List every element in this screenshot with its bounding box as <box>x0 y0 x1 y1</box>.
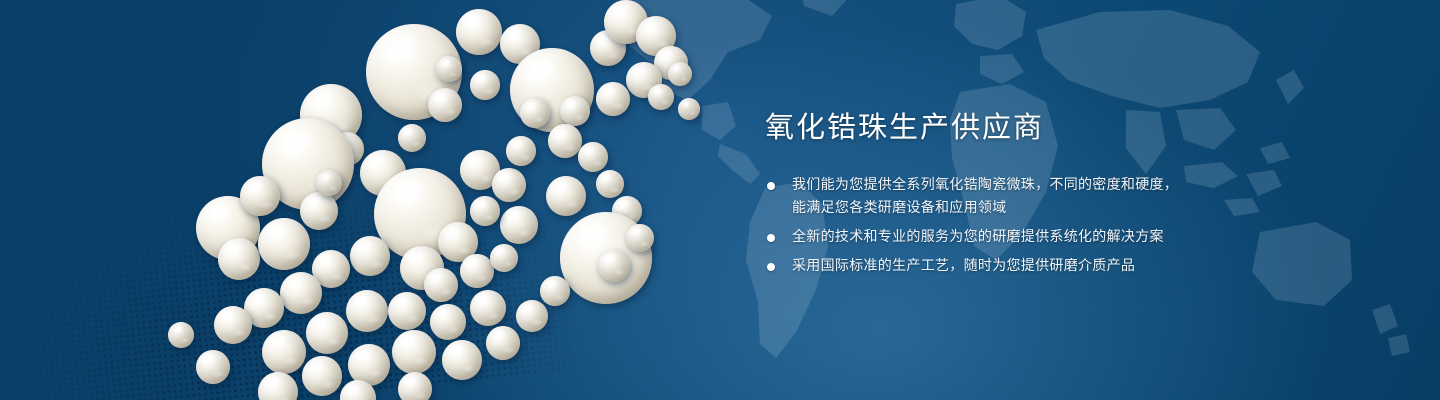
ceramic-bead <box>258 372 298 400</box>
feature-list-item: 我们能为您提供全系列氧化锆陶瓷微珠，不同的密度和硬度，能满足您各类研磨设备和应用… <box>765 174 1235 220</box>
ceramic-bead <box>486 326 520 360</box>
ceramic-bead <box>306 312 348 354</box>
ceramic-bead <box>240 176 280 216</box>
ceramic-bead <box>470 290 506 326</box>
ceramic-bead <box>598 250 630 282</box>
feature-text-line: 能满足您各类研磨设备和应用领域 <box>792 197 1235 220</box>
ceramic-bead <box>540 276 570 306</box>
ceramic-bead <box>300 192 338 230</box>
ceramic-bead <box>424 268 458 302</box>
ceramic-bead <box>428 88 462 122</box>
feature-text-line: 全新的技术和专业的服务为您的研磨提供系统化的解决方案 <box>792 226 1235 249</box>
ceramic-bead <box>490 244 518 272</box>
ceramic-bead <box>258 218 310 270</box>
ceramic-bead <box>214 306 252 344</box>
ceramic-bead <box>470 70 500 100</box>
ceramic-bead <box>578 142 608 172</box>
feature-list: 我们能为您提供全系列氧化锆陶瓷微珠，不同的密度和硬度，能满足您各类研磨设备和应用… <box>765 174 1235 278</box>
ceramic-bead <box>430 304 466 340</box>
ceramic-bead <box>546 176 586 216</box>
ceramic-bead <box>392 330 436 374</box>
ceramic-bead <box>456 9 502 55</box>
ceramic-bead <box>398 124 426 152</box>
ceramic-bead <box>560 96 590 126</box>
feature-text-line: 我们能为您提供全系列氧化锆陶瓷微珠，不同的密度和硬度， <box>792 174 1235 197</box>
ceramic-bead <box>500 206 538 244</box>
ceramic-bead <box>280 272 322 314</box>
feature-list-item: 采用国际标准的生产工艺，随时为您提供研磨介质产品 <box>765 255 1235 278</box>
ceramic-bead <box>436 56 462 82</box>
banner-content: 氧化锆珠生产供应商 我们能为您提供全系列氧化锆陶瓷微珠，不同的密度和硬度，能满足… <box>765 108 1235 278</box>
ceramic-bead <box>398 372 432 400</box>
ceramic-bead <box>492 168 526 202</box>
bullet-dot-icon <box>767 263 775 271</box>
ceramic-bead <box>626 224 654 252</box>
ceramic-bead <box>460 254 494 288</box>
ceramic-bead <box>678 98 700 120</box>
bullet-dot-icon <box>767 234 775 242</box>
ceramic-bead <box>168 322 194 348</box>
ceramic-bead <box>516 300 548 332</box>
ceramic-bead <box>388 292 426 330</box>
ceramic-bead <box>470 196 500 226</box>
ceramic-bead <box>596 170 624 198</box>
ceramic-bead <box>316 170 342 196</box>
ceramic-bead <box>302 356 342 396</box>
ceramic-bead <box>196 350 230 384</box>
ceramic-bead <box>648 84 674 110</box>
ceramic-bead <box>668 62 692 86</box>
ceramic-bead <box>218 238 260 280</box>
ceramic-bead <box>350 236 390 276</box>
ceramic-bead <box>262 330 306 374</box>
hero-banner: 氧化锆珠生产供应商 我们能为您提供全系列氧化锆陶瓷微珠，不同的密度和硬度，能满足… <box>0 0 1440 400</box>
ceramic-bead <box>520 98 550 128</box>
ceramic-bead <box>506 136 536 166</box>
page-title: 氧化锆珠生产供应商 <box>765 108 1235 146</box>
feature-text-line: 采用国际标准的生产工艺，随时为您提供研磨介质产品 <box>792 255 1235 278</box>
feature-list-item: 全新的技术和专业的服务为您的研磨提供系统化的解决方案 <box>765 226 1235 249</box>
zirconia-beads-image <box>0 0 760 400</box>
ceramic-bead <box>442 340 482 380</box>
ceramic-bead <box>596 82 630 116</box>
ceramic-bead <box>548 124 582 158</box>
ceramic-bead <box>346 290 388 332</box>
bullet-dot-icon <box>767 182 775 190</box>
